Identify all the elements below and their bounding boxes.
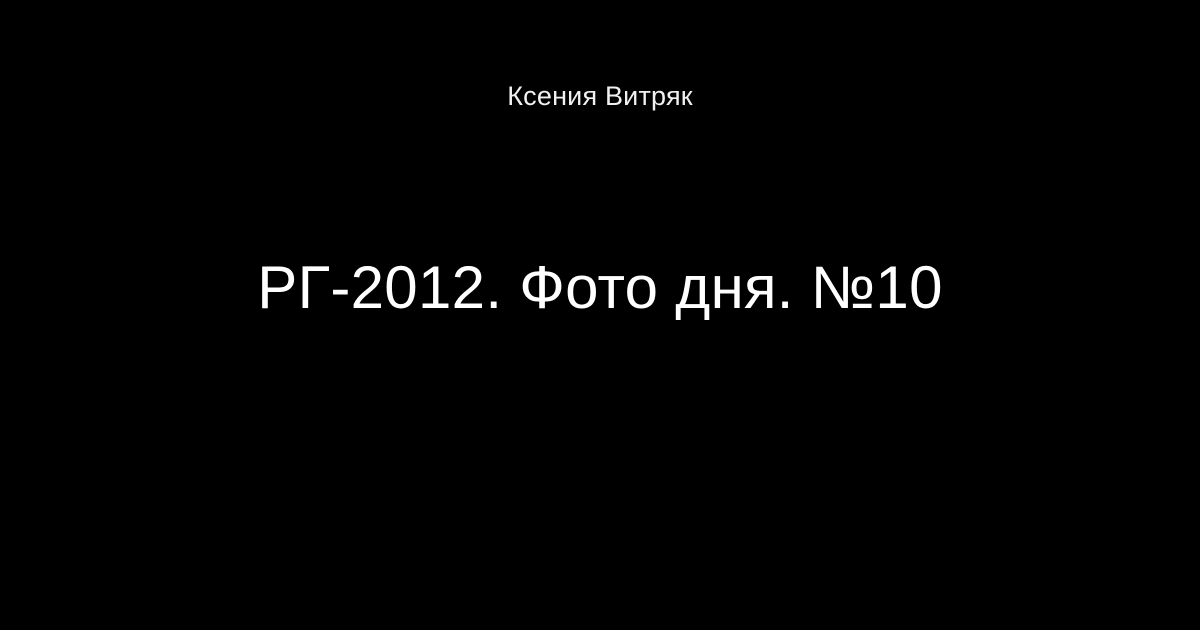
page-title: РГ-2012. Фото дня. №10: [0, 252, 1200, 324]
author-name: Ксения Витряк: [507, 80, 693, 112]
social-share-card: Ксения Витряк РГ-2012. Фото дня. №10: [0, 0, 1200, 630]
page-title-text: РГ-2012. Фото дня. №10: [257, 252, 943, 324]
author-byline: Ксения Витряк: [0, 80, 1200, 112]
